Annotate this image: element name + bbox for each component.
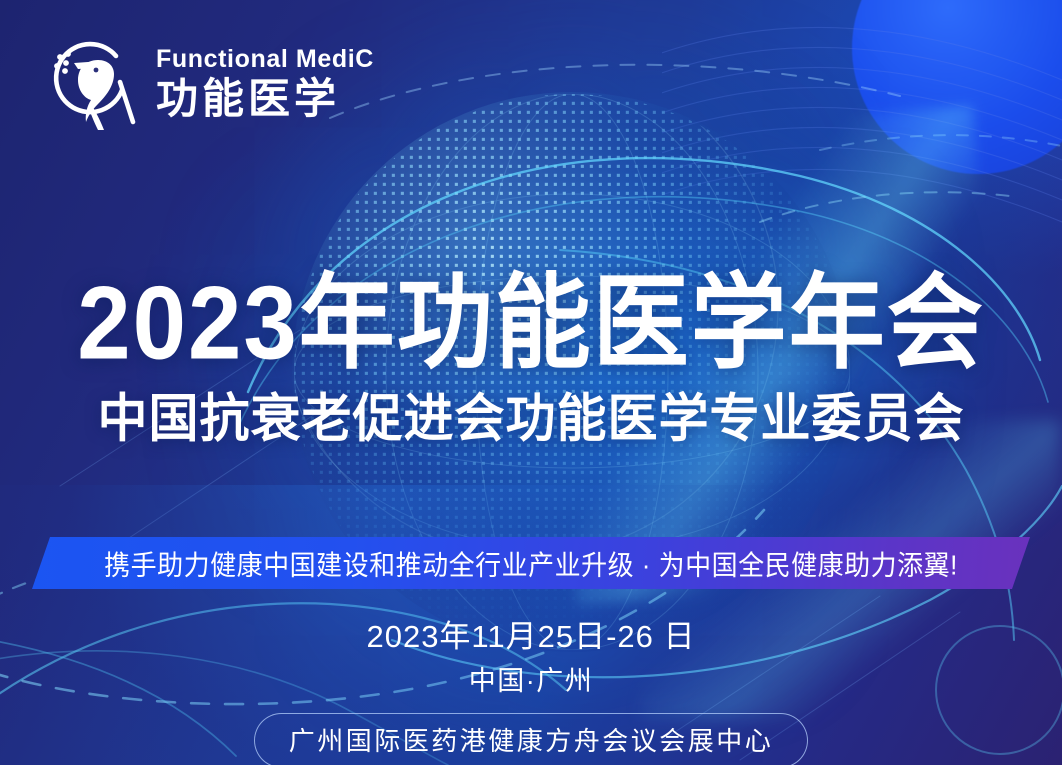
top-right-circle-decoration — [852, 0, 1062, 174]
wave-lines-icon — [662, 0, 1062, 270]
conference-poster: Functional MediC 功能医学 2023年功能医学年会 中国抗衰老促… — [0, 0, 1062, 765]
bird-in-circle-logo-icon — [36, 30, 144, 138]
event-city: 中国·广州 — [0, 665, 1062, 699]
page-title: 2023年功能医学年会 — [0, 272, 1062, 376]
tagline-banner: 携手助力健康中国建设和推动全行业产业升级 · 为中国全民健康助力添翼! — [32, 537, 1030, 589]
event-date: 2023年11月25日-26 日 — [0, 618, 1062, 657]
logo-text-block: Functional MediC 功能医学 — [156, 45, 374, 122]
page-subtitle: 中国抗衰老促进会功能医学专业委员会 — [0, 393, 1062, 445]
logo-chinese-name: 功能医学 — [156, 75, 374, 122]
event-venue: 广州国际医药港健康方舟会议会展中心 — [254, 713, 809, 765]
logo-english-name: Functional MediC — [156, 45, 374, 73]
event-info-block: 2023年11月25日-26 日 中国·广州 广州国际医药港健康方舟会议会展中心 — [0, 618, 1062, 765]
headline-block: 2023年功能医学年会 中国抗衰老促进会功能医学专业委员会 — [0, 272, 1062, 444]
tagline-text: 携手助力健康中国建设和推动全行业产业升级 · 为中国全民健康助力添翼! — [104, 544, 958, 583]
brand-logo: Functional MediC 功能医学 — [36, 30, 374, 138]
